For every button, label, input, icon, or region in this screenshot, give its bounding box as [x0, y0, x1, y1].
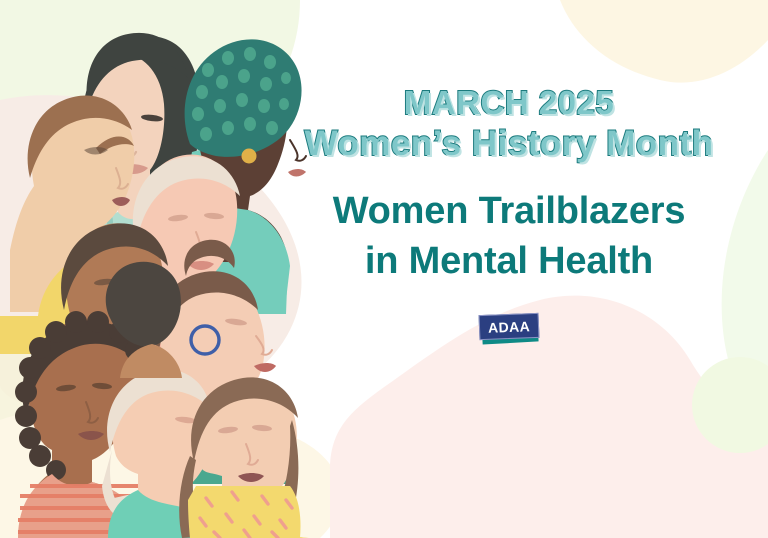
poster-canvas: MARCH 2025 Women’s History Month Women T…: [0, 0, 768, 538]
eyebrow-line-1: MARCH 2025: [404, 84, 614, 121]
adaa-logo-label: ADAA: [488, 318, 531, 334]
eyebrow-heading: MARCH 2025 Women’s History Month: [250, 84, 768, 164]
headline-line-2: in Mental Health: [250, 236, 768, 286]
headline-line-1: Women Trailblazers: [250, 186, 768, 236]
page-title: Women Trailblazers in Mental Health: [250, 186, 768, 286]
poster-text-block: MARCH 2025 Women’s History Month Women T…: [250, 84, 768, 345]
eyebrow-line-2: Women’s History Month: [250, 123, 768, 164]
adaa-logo-box: ADAA: [479, 312, 540, 339]
adaa-logo[interactable]: ADAA: [477, 311, 541, 345]
